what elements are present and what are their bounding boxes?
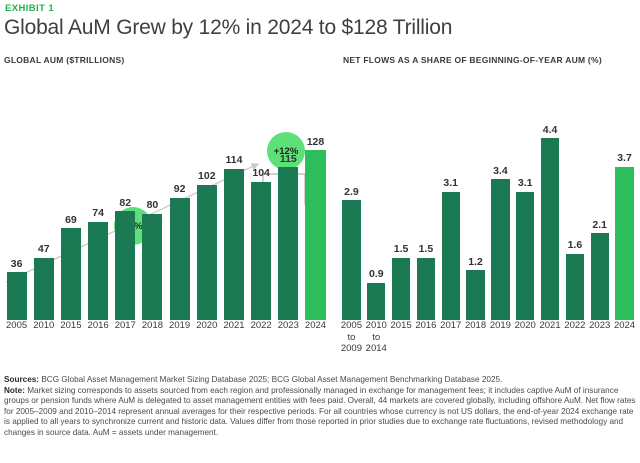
bar-slot[interactable]: 104: [248, 66, 275, 320]
bar-value-label: 1.2: [468, 257, 483, 268]
bar[interactable]: [142, 214, 162, 320]
right-x-axis: 2005 to 20092010 to 20142015201620172018…: [336, 320, 640, 355]
axis-tick-label: 2015: [57, 320, 84, 332]
bar-slot[interactable]: 1.6: [562, 66, 587, 320]
bar-value-label: 3.4: [493, 166, 508, 177]
bar[interactable]: [278, 167, 298, 320]
bar-value-label: 4.4: [543, 125, 558, 136]
axis-tick-label: 2018: [139, 320, 166, 332]
axis-tick-label: 2020: [193, 320, 220, 332]
bar-value-label: 47: [38, 244, 50, 255]
bar-slot[interactable]: 36: [3, 66, 30, 320]
bar[interactable]: [7, 272, 27, 320]
axis-tick-label: 2020: [513, 320, 538, 355]
bar-slot[interactable]: 3.7: [612, 66, 637, 320]
bar-slot[interactable]: 82: [112, 66, 139, 320]
left-bar-group: 36476974828092102114104115128: [0, 66, 332, 320]
bar-slot[interactable]: 1.5: [389, 66, 414, 320]
axis-tick-label: 2017: [438, 320, 463, 355]
bar[interactable]: [417, 258, 435, 320]
sources-text: BCG Global Asset Management Market Sizin…: [39, 375, 502, 384]
bar[interactable]: [591, 233, 609, 320]
bar-value-label: 3.7: [617, 153, 632, 164]
axis-tick-label: 2005: [3, 320, 30, 332]
bar-slot[interactable]: 92: [166, 66, 193, 320]
bar[interactable]: [170, 198, 190, 320]
bar-slot[interactable]: 128: [302, 66, 329, 320]
exhibit-page: EXHIBIT 1 Global AuM Grew by 12% in 2024…: [0, 0, 640, 463]
bar[interactable]: [615, 167, 633, 320]
bar-value-label: 92: [174, 184, 186, 195]
bar[interactable]: [251, 182, 271, 320]
bar[interactable]: [224, 169, 244, 320]
bar[interactable]: [392, 258, 410, 320]
bar[interactable]: [566, 254, 584, 320]
left-plot-area: +7% +12% 36476974828092102114104115128: [0, 66, 332, 320]
axis-tick-label: 2016: [413, 320, 438, 355]
bar-value-label: 1.5: [419, 244, 434, 255]
bar-value-label: 82: [119, 198, 131, 209]
bar[interactable]: [88, 222, 108, 320]
bar-slot[interactable]: 1.5: [413, 66, 438, 320]
axis-tick-label: 2024: [302, 320, 329, 332]
axis-tick-label: 2021: [220, 320, 247, 332]
right-panel-subtitle: NET FLOWS AS A SHARE OF BEGINNING-OF-YEA…: [343, 55, 602, 65]
bar-slot[interactable]: 47: [30, 66, 57, 320]
axis-tick-label: 2022: [248, 320, 275, 332]
note-text: Market sizing corresponds to assets sour…: [4, 386, 635, 437]
bar-slot[interactable]: 2.1: [587, 66, 612, 320]
bar-slot[interactable]: 3.1: [513, 66, 538, 320]
bar[interactable]: [305, 150, 325, 320]
axis-tick-label: 2005 to 2009: [339, 320, 364, 355]
chart-global-aum: +7% +12% 36476974828092102114104115128 2…: [0, 66, 332, 356]
bar-slot[interactable]: 69: [57, 66, 84, 320]
bar-slot[interactable]: 114: [220, 66, 247, 320]
bar-slot[interactable]: 102: [193, 66, 220, 320]
sources-line: Sources: BCG Global Asset Management Mar…: [4, 375, 636, 386]
bar-value-label: 36: [11, 259, 23, 270]
bar-value-label: 80: [147, 200, 159, 211]
bar-slot[interactable]: 2.9: [339, 66, 364, 320]
axis-tick-label: 2010 to 2014: [364, 320, 389, 355]
axis-tick-label: 2018: [463, 320, 488, 355]
note-label: Note:: [4, 386, 25, 395]
bar-slot[interactable]: 1.2: [463, 66, 488, 320]
bar-slot[interactable]: 0.9: [364, 66, 389, 320]
bar-value-label: 69: [65, 215, 77, 226]
bar[interactable]: [516, 192, 534, 320]
bar-value-label: 115: [280, 154, 297, 165]
axis-tick-label: 2022: [562, 320, 587, 355]
bar-value-label: 2.9: [344, 187, 359, 198]
chart-net-flows: 2.90.91.51.53.11.23.43.14.41.62.13.7 200…: [336, 66, 640, 356]
bar[interactable]: [491, 179, 509, 320]
bar[interactable]: [367, 283, 385, 320]
axis-tick-label: 2017: [112, 320, 139, 332]
axis-tick-label: 2015: [389, 320, 414, 355]
bar-value-label: 128: [307, 137, 325, 148]
bar-slot[interactable]: 115: [275, 66, 302, 320]
bar[interactable]: [61, 228, 81, 320]
bar-value-label: 0.9: [369, 269, 384, 280]
bar-slot[interactable]: 74: [85, 66, 112, 320]
axis-tick-label: 2010: [30, 320, 57, 332]
bar-slot[interactable]: 80: [139, 66, 166, 320]
bar-slot[interactable]: 3.4: [488, 66, 513, 320]
note-line: Note: Market sizing corresponds to asset…: [4, 386, 636, 439]
axis-tick-label: 2023: [587, 320, 612, 355]
bar-slot[interactable]: 4.4: [538, 66, 563, 320]
axis-tick-label: 2019: [488, 320, 513, 355]
bar-slot[interactable]: 3.1: [438, 66, 463, 320]
page-title: Global AuM Grew by 12% in 2024 to $128 T…: [4, 16, 452, 40]
left-x-axis: 2005201020152016201720182019202020212022…: [0, 320, 332, 332]
exhibit-label: EXHIBIT 1: [5, 3, 54, 14]
axis-tick-label: 2024: [612, 320, 637, 355]
left-panel-subtitle: GLOBAL AUM ($TRILLIONS): [4, 55, 125, 65]
bar[interactable]: [541, 138, 559, 320]
bar-value-label: 114: [225, 155, 242, 166]
bar-value-label: 3.1: [518, 178, 533, 189]
footnotes: Sources: BCG Global Asset Management Mar…: [4, 375, 636, 439]
bar[interactable]: [342, 200, 360, 320]
bar[interactable]: [34, 258, 54, 320]
sources-label: Sources:: [4, 375, 39, 384]
right-bar-group: 2.90.91.51.53.11.23.43.14.41.62.13.7: [336, 66, 640, 320]
axis-tick-label: 2019: [166, 320, 193, 332]
bar-value-label: 1.5: [394, 244, 409, 255]
bar[interactable]: [442, 192, 460, 320]
axis-tick-label: 2021: [538, 320, 563, 355]
right-plot-area: 2.90.91.51.53.11.23.43.14.41.62.13.7: [336, 66, 640, 320]
bar[interactable]: [115, 211, 135, 320]
bar-value-label: 2.1: [592, 220, 607, 231]
bar-value-label: 1.6: [568, 240, 583, 251]
bar-value-label: 3.1: [443, 178, 458, 189]
bar[interactable]: [197, 185, 217, 320]
bar-value-label: 104: [252, 168, 270, 179]
bar[interactable]: [466, 270, 484, 320]
bar-value-label: 74: [92, 208, 104, 219]
bar-value-label: 102: [198, 171, 216, 182]
axis-tick-label: 2016: [85, 320, 112, 332]
axis-tick-label: 2023: [275, 320, 302, 332]
